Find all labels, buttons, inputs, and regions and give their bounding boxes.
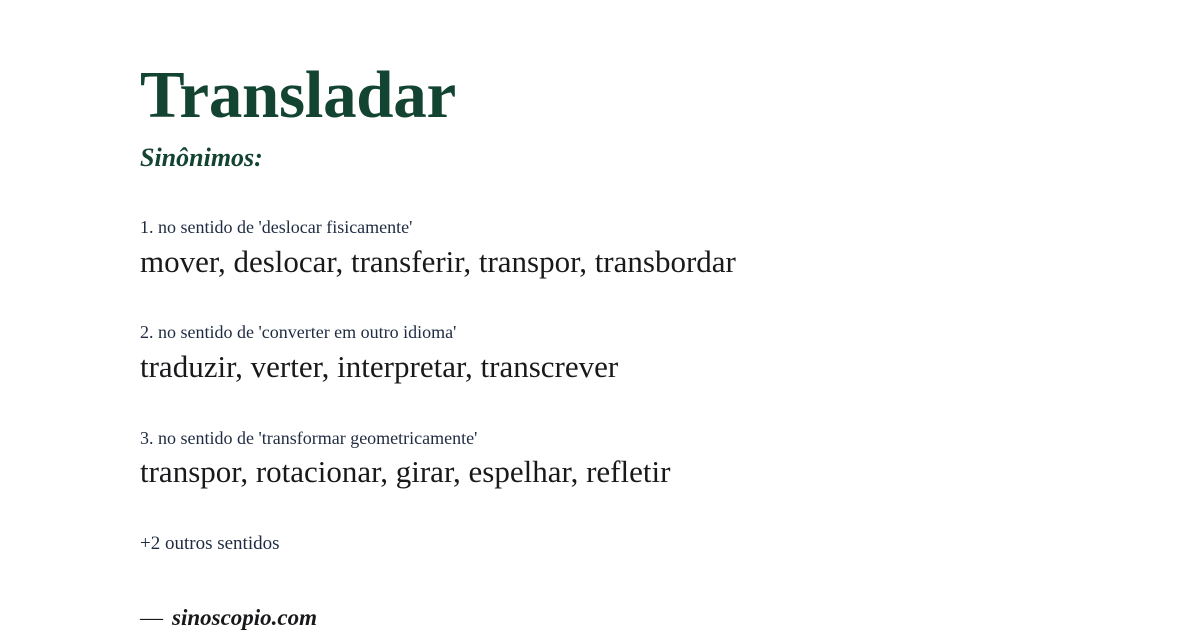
synonym-card: Transladar Sinônimos: 1. no sentido de '…: [0, 0, 1200, 628]
more-senses-note: +2 outros sentidos: [140, 533, 280, 556]
sense-synonyms: traduzir, verter, interpretar, transcrev…: [140, 348, 1140, 386]
sense-synonyms: transpor, rotacionar, girar, espelhar, r…: [140, 453, 1140, 491]
sense-synonyms: mover, deslocar, transferir, transpor, t…: [140, 243, 1140, 281]
sense-entry: 2. no sentido de 'converter em outro idi…: [140, 322, 1140, 385]
em-dash-icon: —: [140, 604, 163, 632]
source-attribution: — sinoscopio.com: [140, 604, 317, 632]
sense-label: 1. no sentido de 'deslocar fisicamente': [140, 217, 1140, 239]
sense-list: 1. no sentido de 'deslocar fisicamente' …: [140, 171, 1140, 491]
sense-label: 3. no sentido de 'transformar geometrica…: [140, 428, 1140, 450]
sense-entry: 3. no sentido de 'transformar geometrica…: [140, 428, 1140, 491]
source-name: sinoscopio.com: [172, 604, 317, 632]
page-title: Transladar: [140, 62, 456, 129]
sense-entry: 1. no sentido de 'deslocar fisicamente' …: [140, 217, 1140, 280]
subtitle-synonyms: Sinônimos:: [140, 145, 263, 171]
sense-label: 2. no sentido de 'converter em outro idi…: [140, 322, 1140, 344]
